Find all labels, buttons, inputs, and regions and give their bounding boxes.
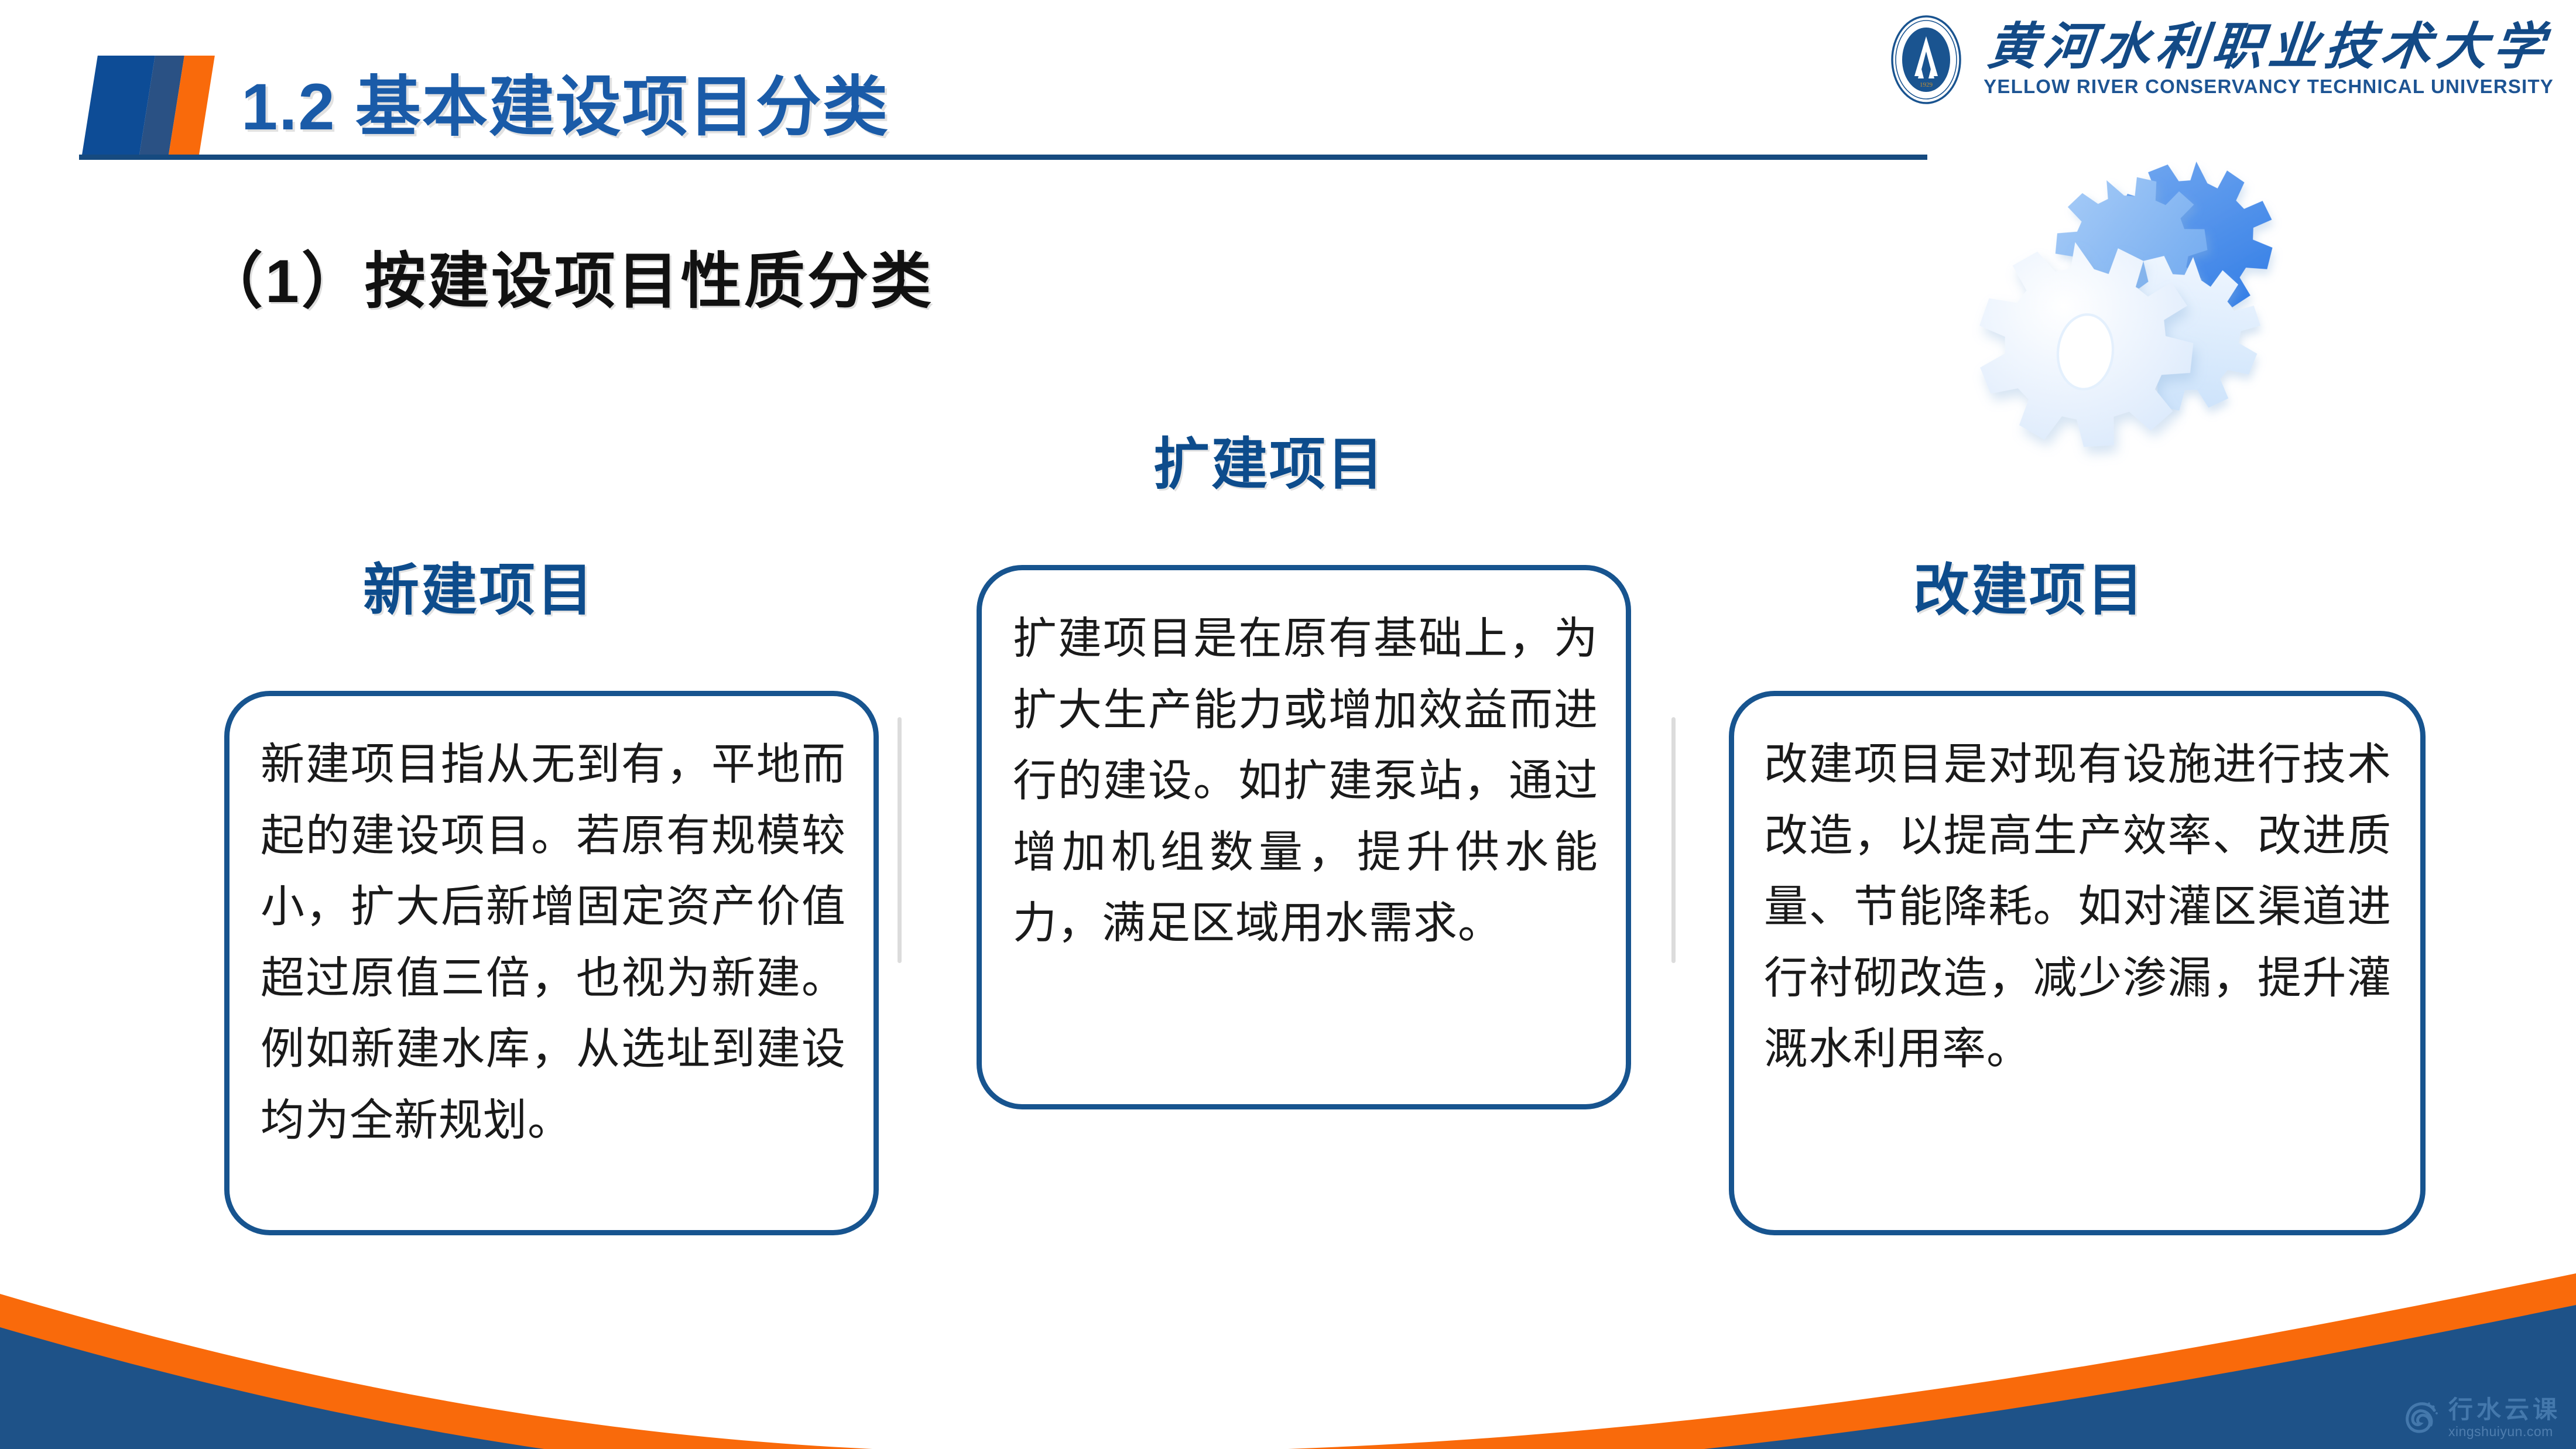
bottom-decoration [0,1256,2576,1449]
title-divider-rule [79,155,1927,160]
title-accent-bars [78,56,213,158]
page-title: 1.2 基本建设项目分类 [241,54,889,149]
university-wordmark: 黄河水利职业技术大学 YELLOW RIVER CONSERVANCY TECH… [1984,22,2554,98]
card-title-expansion-project: 扩建项目 [1153,419,1385,500]
card-body-expansion-project: 扩建项目是在原有基础上，为扩大生产能力或增加效益而进行的建设。如扩建泵站，通过增… [1013,603,1598,959]
card-title-renovation-project: 改建项目 [1913,544,2145,626]
slide-root: 1.2 基本建设项目分类 1929 黄河水利职业技术大学 YELLOW RIVE… [0,0,2576,1449]
card-title-new-project: 新建项目 [363,544,595,626]
section-subtitle: （1）按建设项目性质分类 [202,231,934,320]
card-separator-1 [898,717,902,963]
svg-text:1929: 1929 [1920,81,1933,88]
watermark-name: 行水云课 [2448,1397,2561,1422]
watermark-url: xingshuiyun.com [2448,1425,2561,1438]
watermark: 行水云课 xingshuiyun.com [2400,1397,2561,1438]
card-body-renovation-project: 改建项目是对现有设施进行技术改造，以提高生产效率、改进质量、节能降耗。如对灌区渠… [1764,729,2392,1085]
wave-icon [2400,1397,2441,1438]
university-name-en: YELLOW RIVER CONSERVANCY TECHNICAL UNIVE… [1984,76,2554,98]
university-seal-icon: 1929 [1879,13,1973,107]
card-separator-2 [1671,717,1676,963]
university-logo: 1929 黄河水利职业技术大学 YELLOW RIVER CONSERVANCY… [1879,13,2554,107]
card-body-new-project: 新建项目指从无到有，平地而起的建设项目。若原有规模较小，扩大后新增固定资产价值超… [261,729,846,1156]
gear-decoration [1868,120,2330,524]
university-name-cn: 黄河水利职业技术大学 [1985,22,2553,72]
